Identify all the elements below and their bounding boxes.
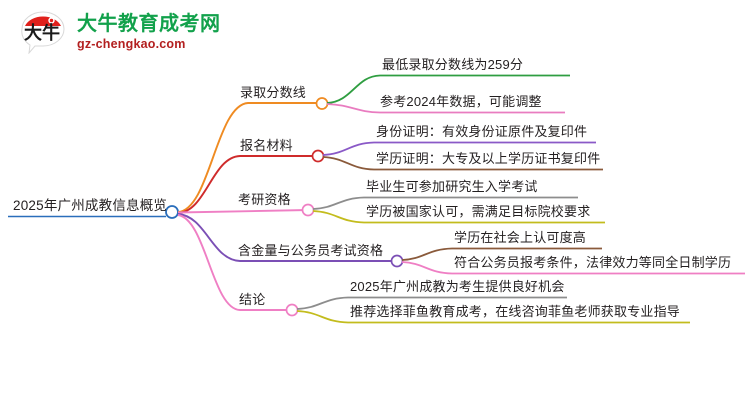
leaf-label-3-1[interactable]: 毕业生可参加研究生入学考试 bbox=[366, 180, 538, 194]
leaf-label-1-1[interactable]: 最低录取分数线为259分 bbox=[382, 58, 523, 72]
leaf-label-2-1[interactable]: 身份证明：有效身份证原件及复印件 bbox=[376, 125, 587, 139]
leaf-label-2-2[interactable]: 学历证明：大专及以上学历证书复印件 bbox=[376, 152, 600, 166]
branch-connector-5 bbox=[178, 215, 292, 310]
branch-node-circle-3[interactable] bbox=[303, 205, 314, 216]
root-node-label[interactable]: 2025年广州成教信息概览 bbox=[13, 199, 167, 214]
leaf-label-5-2[interactable]: 推荐选择菲鱼教育成考，在线咨询菲鱼老师获取专业指导 bbox=[350, 305, 680, 319]
leaf-label-3-2[interactable]: 学历被国家认可，需满足目标院校要求 bbox=[366, 205, 590, 219]
branch-label-4[interactable]: 含金量与公务员考试资格 bbox=[238, 244, 383, 258]
branch-connector-3 bbox=[178, 210, 308, 213]
leaf-label-4-1[interactable]: 学历在社会上认可度高 bbox=[454, 231, 586, 245]
root-node-circle[interactable] bbox=[166, 206, 178, 218]
branch-label-3[interactable]: 考研资格 bbox=[238, 193, 291, 207]
branch-label-2[interactable]: 报名材料 bbox=[240, 139, 293, 153]
branch-node-circle-4[interactable] bbox=[392, 256, 403, 267]
leaf-label-5-1[interactable]: 2025年广州成教为考生提供良好机会 bbox=[350, 280, 565, 294]
branch-label-5[interactable]: 结论 bbox=[239, 293, 265, 307]
branch-node-circle-1[interactable] bbox=[317, 98, 328, 109]
branch-node-circle-5[interactable] bbox=[287, 305, 298, 316]
leaf-label-1-2[interactable]: 参考2024年数据，可能调整 bbox=[380, 95, 542, 109]
branch-label-1[interactable]: 录取分数线 bbox=[240, 86, 306, 100]
branch-node-circle-2[interactable] bbox=[313, 151, 324, 162]
leaf-label-4-2[interactable]: 符合公务员报考条件，法律效力等同全日制学历 bbox=[454, 256, 731, 270]
